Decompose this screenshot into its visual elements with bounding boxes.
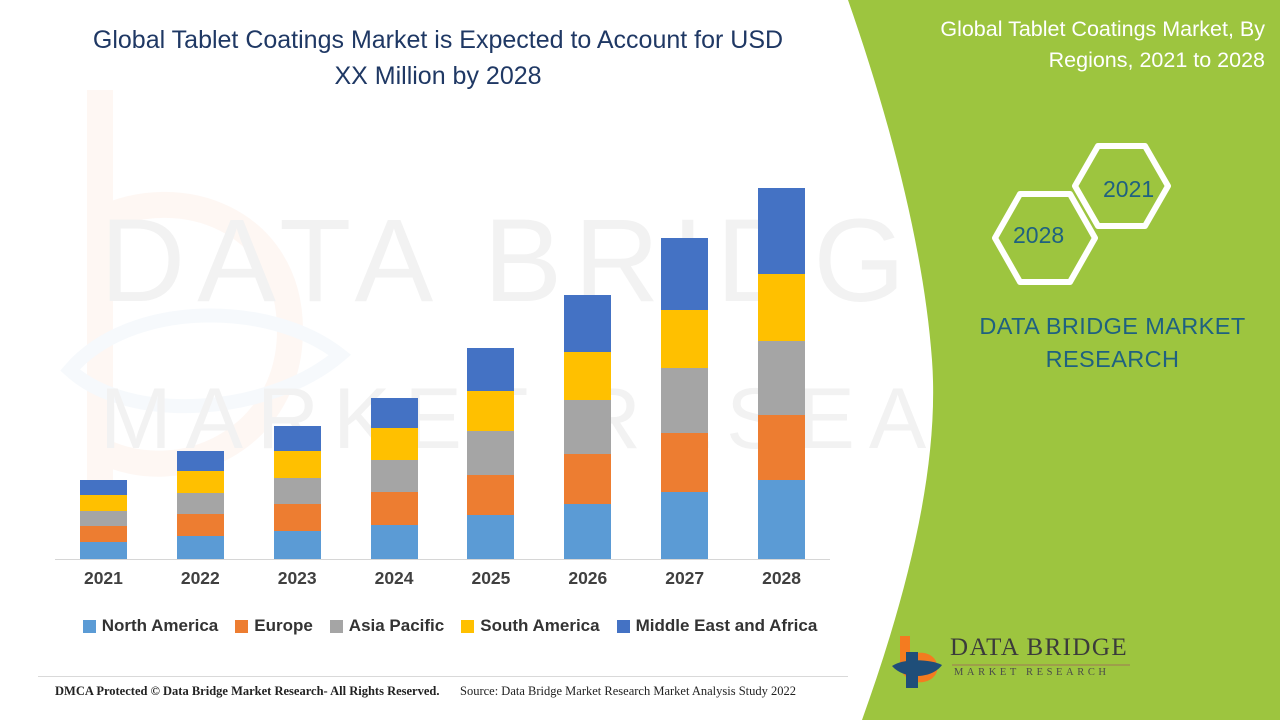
chart-bar-column [346,160,443,559]
footer-divider [38,676,848,677]
chart-bar-segment [564,295,611,352]
chart-bar [758,188,805,559]
hexagon-label-end-year: 2028 [1013,222,1064,249]
chart-legend: North AmericaEuropeAsia PacificSouth Ame… [55,616,845,636]
legend-label: South America [480,616,599,636]
chart-bar-segment [371,398,418,428]
legend-item[interactable]: North America [83,616,219,636]
chart-bar-segment [80,495,127,511]
chart-bar-column [539,160,636,559]
chart-bar [177,451,224,559]
chart-bar-segment [274,478,321,504]
hexagon-shapes-icon [985,138,1185,288]
panel-title: Global Tablet Coatings Market, By Region… [890,14,1265,76]
chart-bar-segment [758,188,805,274]
chart-bar-segment [564,504,611,559]
chart-bar-segment [758,341,805,416]
chart-bar-column [733,160,830,559]
chart-bar-segment [177,451,224,471]
logo-title: DATA BRIDGE [950,634,1128,662]
chart-bar-segment [564,352,611,401]
chart-bar-segment [467,391,514,431]
chart-bar-segment [177,493,224,514]
chart-bar [274,426,321,559]
chart-bar-segment [564,454,611,504]
chart-bar-column [55,160,152,559]
stacked-bar-chart [55,160,830,560]
chart-bar-segment [371,460,418,492]
legend-label: Europe [254,616,313,636]
chart-bar-segment [564,400,611,454]
hexagon-group: 2021 2028 [985,138,1185,288]
legend-swatch-icon [617,620,630,633]
chart-bar-segment [661,238,708,310]
chart-bar-segment [177,514,224,536]
legend-swatch-icon [83,620,96,633]
legend-item[interactable]: Middle East and Africa [617,616,818,636]
legend-swatch-icon [461,620,474,633]
chart-x-tick-label: 2026 [539,568,636,589]
chart-bar [80,480,127,559]
chart-bar-segment [274,451,321,478]
chart-bar-segment [177,471,224,493]
footer-dmca-text: DMCA Protected © Data Bridge Market Rese… [55,684,440,699]
data-bridge-logo: DATA BRIDGE MARKET RESEARCH [890,632,1130,698]
chart-bar-segment [661,492,708,559]
chart-bar-segment [80,511,127,526]
chart-x-axis-line [55,559,830,560]
chart-bar-segment [80,526,127,542]
chart-bar-segment [467,475,514,515]
chart-bar-segment [661,310,708,368]
data-bridge-mark-icon [890,632,948,694]
chart-bar-column [636,160,733,559]
chart-bar-segment [177,536,224,559]
chart-x-tick-label: 2022 [152,568,249,589]
legend-label: Middle East and Africa [636,616,818,636]
chart-bar-segment [80,480,127,495]
logo-subtitle: MARKET RESEARCH [954,667,1110,678]
chart-bar-segment [467,515,514,559]
chart-x-tick-label: 2027 [636,568,733,589]
panel-brand-line2: RESEARCH [955,343,1270,376]
chart-bar [371,398,418,559]
chart-bar [564,295,611,559]
chart-bar-segment [758,415,805,480]
legend-item[interactable]: Europe [235,616,313,636]
chart-bar-segment [758,274,805,341]
chart-bars [55,160,830,559]
legend-label: Asia Pacific [349,616,444,636]
legend-item[interactable]: Asia Pacific [330,616,444,636]
chart-bar-segment [467,348,514,392]
chart-bar-segment [661,433,708,492]
chart-bar-segment [467,431,514,475]
chart-bar-segment [80,542,127,559]
chart-x-tick-label: 2023 [249,568,346,589]
chart-bar [467,348,514,559]
page-title: Global Tablet Coatings Market is Expecte… [88,22,788,95]
chart-x-axis-labels: 20212022202320242025202620272028 [55,568,830,589]
chart-bar-segment [758,480,805,559]
chart-bar-segment [274,531,321,559]
legend-swatch-icon [330,620,343,633]
hexagon-label-start-year: 2021 [1103,176,1154,203]
chart-bar-column [249,160,346,559]
chart-bar [661,238,708,559]
chart-bar-segment [371,428,418,460]
chart-bar-segment [661,368,708,434]
chart-bar-column [152,160,249,559]
footer-source-text: Source: Data Bridge Market Research Mark… [460,684,796,699]
chart-x-tick-label: 2021 [55,568,152,589]
chart-bar-segment [274,504,321,531]
panel-brand-name: DATA BRIDGE MARKET RESEARCH [955,310,1270,377]
chart-x-tick-label: 2025 [443,568,540,589]
chart-bar-segment [274,426,321,451]
chart-x-tick-label: 2024 [346,568,443,589]
infographic-root: DATA BRIDGE MARKET RESEARCH Global Table… [0,0,1280,720]
panel-brand-line1: DATA BRIDGE MARKET [955,310,1270,343]
chart-x-tick-label: 2028 [733,568,830,589]
chart-bar-segment [371,525,418,559]
chart-bar-segment [371,492,418,525]
chart-bar-column [443,160,540,559]
legend-item[interactable]: South America [461,616,599,636]
legend-label: North America [102,616,219,636]
legend-swatch-icon [235,620,248,633]
logo-divider [952,664,1130,666]
